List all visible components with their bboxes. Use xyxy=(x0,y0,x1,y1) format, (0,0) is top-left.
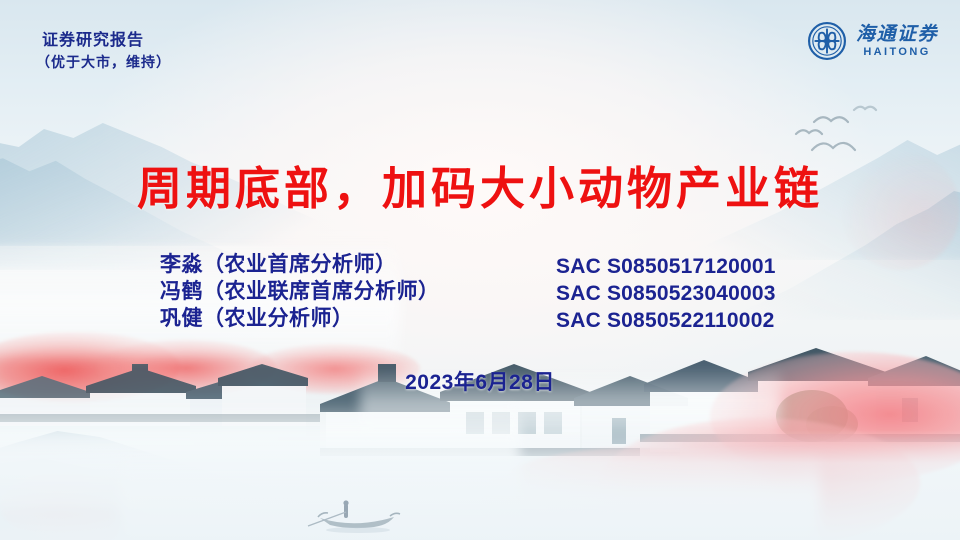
haitong-logo-cn: 海通证券 xyxy=(856,25,938,44)
sac-license-list: SAC S0850517120001 SAC S0850523040003 SA… xyxy=(556,253,886,334)
foreground-ridge-left xyxy=(0,392,410,540)
cherry-blossom-right-3 xyxy=(480,448,780,540)
report-date: 2023年6月28日 xyxy=(0,366,960,396)
haitong-circular-emblem-icon xyxy=(807,21,847,61)
author-name-role: 李淼（农业首席分析师） xyxy=(160,250,560,277)
sac-license-number: SAC S0850523040003 xyxy=(556,280,886,307)
page-title: 周期底部，加码大小动物产业链 xyxy=(0,152,960,217)
water-surface xyxy=(0,430,960,540)
village-rooftops-right xyxy=(640,338,960,478)
report-tag-line2: （优于大市，维持） xyxy=(36,53,296,75)
sac-license-number: SAC S0850522110002 xyxy=(556,307,886,334)
presentation-slide: 证券研究报告 （优于大市，维持） 海通证券 HAITONG 周期底部， xyxy=(0,0,960,540)
authors-list: 李淼（农业首席分析师） 冯鹤（农业联席首席分析师） 巩健（农业分析师） xyxy=(160,250,560,331)
haitong-logo: 海通证券 HAITONG xyxy=(807,16,938,66)
cherry-blossom-left-4 xyxy=(0,470,150,540)
report-tag: 证券研究报告 （优于大市，维持） xyxy=(36,28,296,74)
haitong-logo-text: 海通证券 HAITONG xyxy=(856,25,938,58)
boat-on-water xyxy=(302,500,412,534)
author-name-role: 巩健（农业分析师） xyxy=(160,304,560,331)
author-name-role: 冯鹤（农业联席首席分析师） xyxy=(160,277,560,304)
foreground-ridge-left-secondary xyxy=(0,430,340,540)
report-tag-line1: 证券研究报告 xyxy=(36,28,296,53)
haitong-logo-en: HAITONG xyxy=(863,47,930,58)
mist-lower-left xyxy=(0,400,520,510)
cherry-blossom-right-2 xyxy=(600,418,920,540)
sac-license-number: SAC S0850517120001 xyxy=(556,253,886,280)
mist-bottom xyxy=(120,452,820,540)
